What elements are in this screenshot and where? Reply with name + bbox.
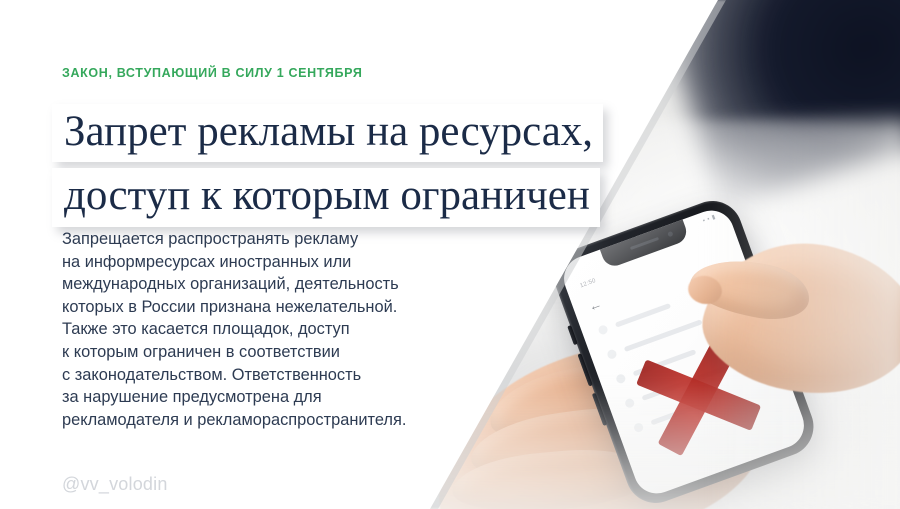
- screen-list-line: [615, 303, 671, 328]
- body-line: рекламодателя и рекламораспространителя.: [62, 409, 492, 432]
- headline-line-1: Запрет рекламы на ресурсах,: [52, 104, 603, 162]
- body-line: которых в России признана нежелательной.: [62, 296, 492, 319]
- account-handle: @vv_volodin: [62, 474, 168, 495]
- eyebrow-label: ЗАКОН, ВСТУПАЮЩИЙ В СИЛУ 1 СЕНТЯБРЯ: [62, 66, 363, 80]
- body-line: международных организаций, деятельность: [62, 273, 492, 296]
- body-copy: Запрещается распространять рекламу на ин…: [62, 228, 492, 431]
- body-line: к которым ограничен в соответствии: [62, 341, 492, 364]
- back-arrow-icon: ←: [587, 297, 604, 314]
- phone-earpiece-icon: [630, 237, 659, 250]
- phone-status-time: 12:50: [579, 278, 597, 289]
- body-line: с законодательством. Ответственность: [62, 364, 492, 387]
- page-title: Запрет рекламы на ресурсах, доступ к кот…: [52, 104, 672, 233]
- body-line: за нарушение предусмотрена для: [62, 386, 492, 409]
- screen-list-avatar: [597, 324, 609, 336]
- phone-status-icons: ▪ ▪ ▮: [702, 213, 717, 224]
- slide-canvas: 12:50 ▪ ▪ ▮ ←: [0, 0, 900, 509]
- headline-line-2: доступ к которым ограничен: [52, 168, 600, 226]
- body-line: Запрещается распространять рекламу: [62, 228, 492, 251]
- screen-list-avatar: [606, 349, 618, 361]
- body-line: Также это касается площадок, доступ: [62, 318, 492, 341]
- body-line: на информресурсах иностранных или: [62, 251, 492, 274]
